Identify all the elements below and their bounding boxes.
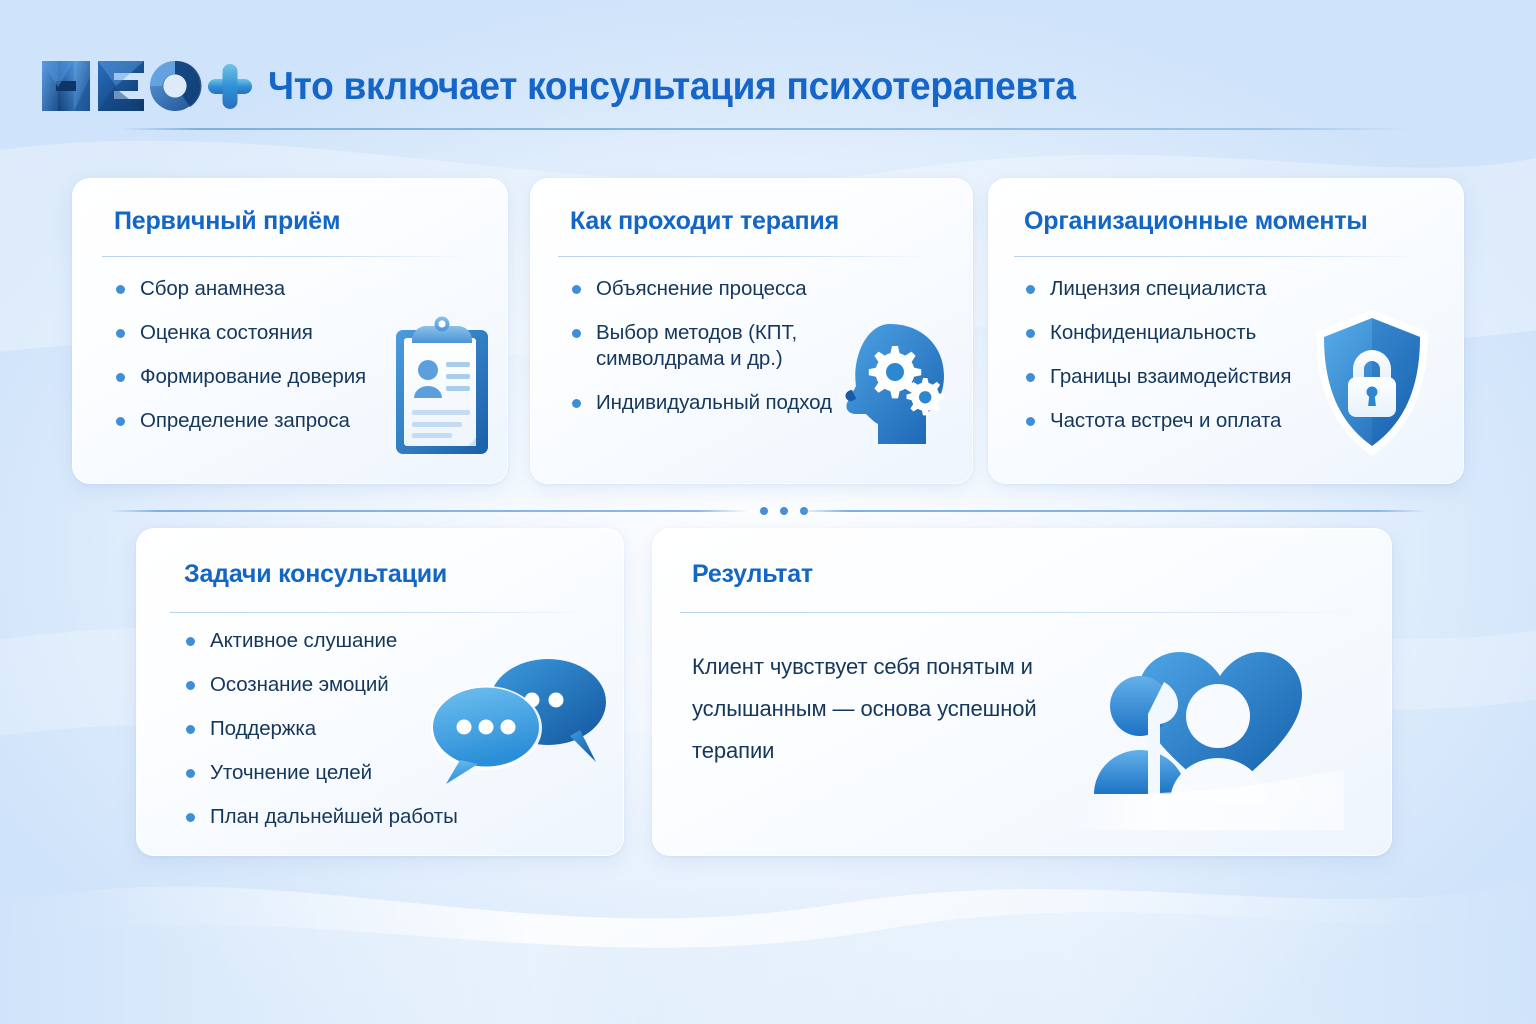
list-item: Оценка состояния (114, 320, 444, 346)
card-organizational[interactable]: Организационные моменты Лицензия специал… (988, 178, 1464, 484)
bullet-list: Сбор анамнеза Оценка состояния Формирова… (114, 276, 444, 434)
list-item: Конфиденциальность (1024, 320, 1334, 346)
list-item: Поддержка (184, 716, 504, 742)
card-result[interactable]: Результат Клиент чувствует себя понятым … (652, 528, 1392, 856)
card-how-therapy-goes[interactable]: Как проходит терапия Объяснение процесса… (530, 178, 973, 484)
card-title: Результат (692, 560, 813, 589)
bullet-list: Лицензия специалиста Конфиденциальность … (1024, 276, 1334, 434)
list-item: Определение запроса (114, 408, 444, 434)
card-consultation-tasks[interactable]: Задачи консультации Активное слушание Ос… (136, 528, 624, 856)
card-title: Задачи консультации (184, 560, 447, 589)
card-title: Как проходит терапия (570, 207, 839, 236)
list-item: Активное слушание (184, 628, 504, 654)
list-item: Формирование доверия (114, 364, 444, 390)
card-title-rule (558, 256, 933, 257)
list-item: Выбор методов (КПТ, символдрама и др.) (570, 320, 840, 372)
list-item: Границы взаимодействия (1024, 364, 1334, 390)
page-header: Что включает консультация психотерапевта (40, 38, 1440, 134)
divider-dot (780, 507, 788, 515)
divider-line-right (798, 510, 1428, 512)
head-gears-icon (830, 318, 958, 456)
list-item: План дальнейшей работы (184, 804, 504, 830)
list-item: Лицензия специалиста (1024, 276, 1334, 302)
list-item: Уточнение целей (184, 760, 504, 786)
list-item: Объяснение процесса (570, 276, 840, 302)
page-title: Что включает консультация психотерапевта (268, 67, 1076, 106)
bullet-list: Активное слушание Осознание эмоций Подде… (184, 628, 504, 830)
card-title-rule (1014, 256, 1424, 257)
section-divider (108, 503, 1428, 519)
card-title: Первичный приём (114, 207, 340, 236)
divider-dot (760, 507, 768, 515)
card-title-rule (680, 612, 1360, 613)
infographic-canvas: Что включает консультация психотерапевта… (0, 0, 1536, 1024)
list-item: Сбор анамнеза (114, 276, 444, 302)
card-primary-intake[interactable]: Первичный приём Сбор анамнеза Оценка сос… (72, 178, 508, 484)
heart-people-icon (1072, 610, 1344, 830)
divider-line-left (108, 510, 748, 512)
card-title-rule (170, 612, 594, 613)
header-divider (120, 128, 1410, 130)
list-item: Индивидуальный подход (570, 390, 840, 416)
card-title: Организационные моменты (1024, 207, 1368, 236)
neo-plus-logo (40, 57, 252, 115)
result-body-text: Клиент чувствует себя понятым и услышанн… (692, 646, 1112, 772)
list-item: Частота встреч и оплата (1024, 408, 1334, 434)
card-title-rule (102, 256, 472, 257)
list-item: Осознание эмоций (184, 672, 504, 698)
bullet-list: Объяснение процесса Выбор методов (КПТ, … (570, 276, 840, 416)
